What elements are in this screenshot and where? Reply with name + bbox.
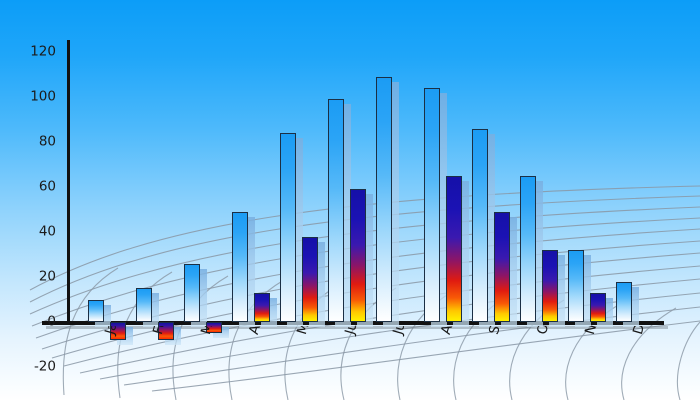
- x-tick-label-november: November: [582, 326, 617, 336]
- bar-series1-february[interactable]: [136, 288, 152, 322]
- bar-chart: -20020406080100120 JanuaryFebruaryMarchA…: [0, 0, 700, 400]
- bar-series1-january[interactable]: [88, 300, 104, 323]
- bar-series1-december[interactable]: [616, 282, 632, 323]
- bar-series2-september[interactable]: [494, 212, 510, 322]
- y-tick-label: 100: [8, 90, 56, 104]
- bar-series1-july[interactable]: [376, 77, 392, 322]
- bar-series2-august[interactable]: [446, 176, 462, 322]
- x-tick-label-april: April: [246, 326, 270, 336]
- bar-series1-september[interactable]: [472, 129, 488, 323]
- y-tick-label: 40: [8, 225, 56, 239]
- x-tick-label-february: February: [150, 326, 182, 336]
- bar-series1-august[interactable]: [424, 88, 440, 322]
- bar-series2-may[interactable]: [302, 237, 318, 323]
- bar-series1-june[interactable]: [328, 99, 344, 322]
- x-tick-label-july: July: [390, 326, 412, 336]
- bar-series2-november[interactable]: [590, 293, 606, 322]
- y-tick-label: 80: [8, 135, 56, 149]
- y-axis-line: [67, 40, 70, 325]
- y-tick-label: 60: [8, 180, 56, 194]
- bar-series1-march[interactable]: [184, 264, 200, 323]
- bar-series1-may[interactable]: [280, 133, 296, 322]
- bar-series2-october[interactable]: [542, 250, 558, 322]
- bar-series1-april[interactable]: [232, 212, 248, 322]
- x-tick-label-june: June: [342, 326, 365, 336]
- bar-series2-april[interactable]: [254, 293, 270, 322]
- x-tick-label-january: January: [102, 326, 131, 336]
- x-tick-label-september: September: [486, 326, 522, 336]
- x-tick-label-august: August: [438, 326, 466, 336]
- y-tick-label: 120: [8, 45, 56, 59]
- bar-series1-november[interactable]: [568, 250, 584, 322]
- bar-series1-october[interactable]: [520, 176, 536, 322]
- x-tick-label-may: May: [294, 326, 317, 336]
- bar-series2-june[interactable]: [350, 189, 366, 322]
- x-axis-tick-labels: JanuaryFebruaryMarchAprilMayJuneJulyAugu…: [0, 326, 700, 400]
- x-tick-label-december: December: [630, 326, 665, 336]
- y-tick-label: 20: [8, 270, 56, 284]
- x-tick-label-march: March: [198, 326, 225, 336]
- x-tick-label-october: October: [534, 326, 564, 336]
- plot-area: -20020406080100120 JanuaryFebruaryMarchA…: [0, 0, 700, 400]
